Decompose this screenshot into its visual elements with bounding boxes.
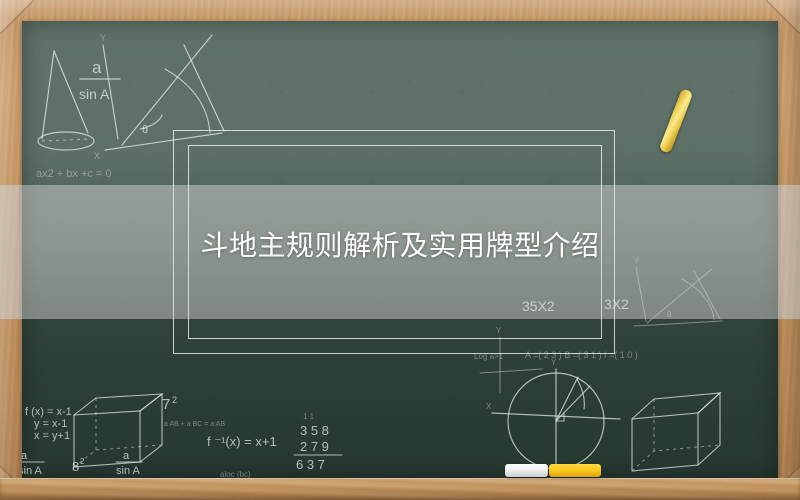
svg-text:Y: Y [551, 358, 557, 367]
svg-text:1 1: 1 1 [303, 412, 315, 421]
yellow-eraser [549, 464, 601, 477]
svg-text:2 7 9: 2 7 9 [300, 439, 329, 454]
screenshot-root: a sin A ax2 + bx +c = 0 Y X θ f (x) = x-… [0, 0, 800, 500]
svg-text:6 3 7: 6 3 7 [296, 457, 325, 472]
chalk-small-eq: a AB + a BC = a AB [164, 421, 225, 428]
cube-right-drawing [632, 393, 720, 471]
svg-text:a: a [123, 450, 130, 462]
chalk-sina-denominator: sin A [79, 86, 110, 102]
chalk-quadratic: ax2 + bx +c = 0 [36, 168, 112, 180]
chalk-log-bc: aloc (bc) [220, 470, 251, 478]
svg-text:3 5 8: 3 5 8 [300, 423, 329, 438]
svg-text:sin A: sin A [22, 465, 43, 477]
svg-text:a: a [22, 450, 28, 462]
svg-text:x = y+1: x = y+1 [34, 430, 70, 442]
svg-text:Y: Y [100, 33, 106, 43]
svg-text:sin A: sin A [116, 465, 141, 477]
chalk-ledge [0, 478, 800, 500]
circle-diagram: Log a>1 X Y [474, 352, 620, 473]
cube-left-drawing [74, 394, 162, 467]
chalk-inverse-fn: f ⁻¹(x) = x+1 [207, 434, 277, 449]
page-title: 斗地主规则解析及实用牌型介绍 [0, 228, 800, 264]
chalk-eight-exp: 2 [80, 457, 85, 466]
svg-text:y = x-1: y = x-1 [34, 418, 67, 430]
chalk-eight: 8 [72, 459, 79, 474]
svg-text:X: X [94, 151, 100, 161]
function-equations: f (x) = x-1 y = x-1 x = y+1 [25, 406, 72, 442]
chalk-a-numerator: a [92, 58, 102, 77]
white-chalk [505, 464, 548, 477]
cone-drawing [38, 51, 94, 150]
sine-rule-bottom-left: a sin A [22, 450, 44, 477]
svg-text:θ: θ [142, 124, 148, 136]
chalk-seven-exp: 2 [172, 395, 177, 405]
svg-text:f (x) = x-1: f (x) = x-1 [25, 406, 72, 418]
chalk-seven: 7 [162, 396, 170, 413]
sine-rule-bottom-mid: a sin A [116, 450, 142, 477]
svg-text:X: X [486, 402, 492, 411]
digit-grid: 3 5 8 2 7 9 6 3 7 1 1 [294, 412, 342, 472]
